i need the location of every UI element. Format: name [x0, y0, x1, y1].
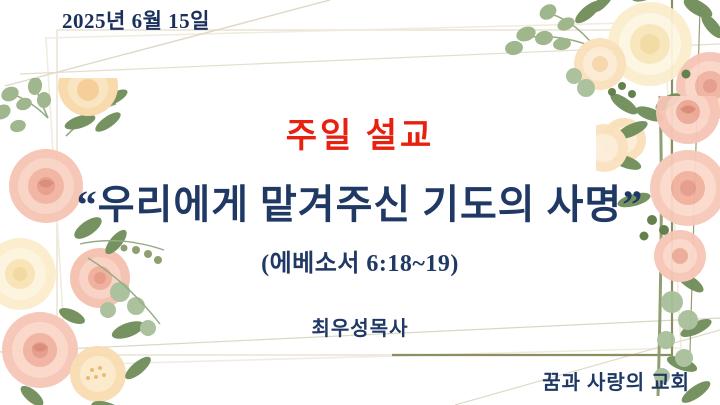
- sermon-slide: 2025년 6월 15일 주일 설교 “우리에게 맡겨주신 기도의 사명” (에…: [0, 0, 720, 405]
- scripture-reference: (에베소서 6:18~19): [0, 243, 720, 278]
- sermon-date: 2025년 6월 15일: [62, 5, 210, 35]
- preacher-name: 최우성목사: [0, 312, 720, 341]
- sermon-kind-heading: 주일 설교: [0, 108, 720, 157]
- church-name: 꿈과 사랑의 교회: [0, 366, 690, 395]
- sermon-title: “우리에게 맡겨주신 기도의 사명”: [0, 172, 720, 230]
